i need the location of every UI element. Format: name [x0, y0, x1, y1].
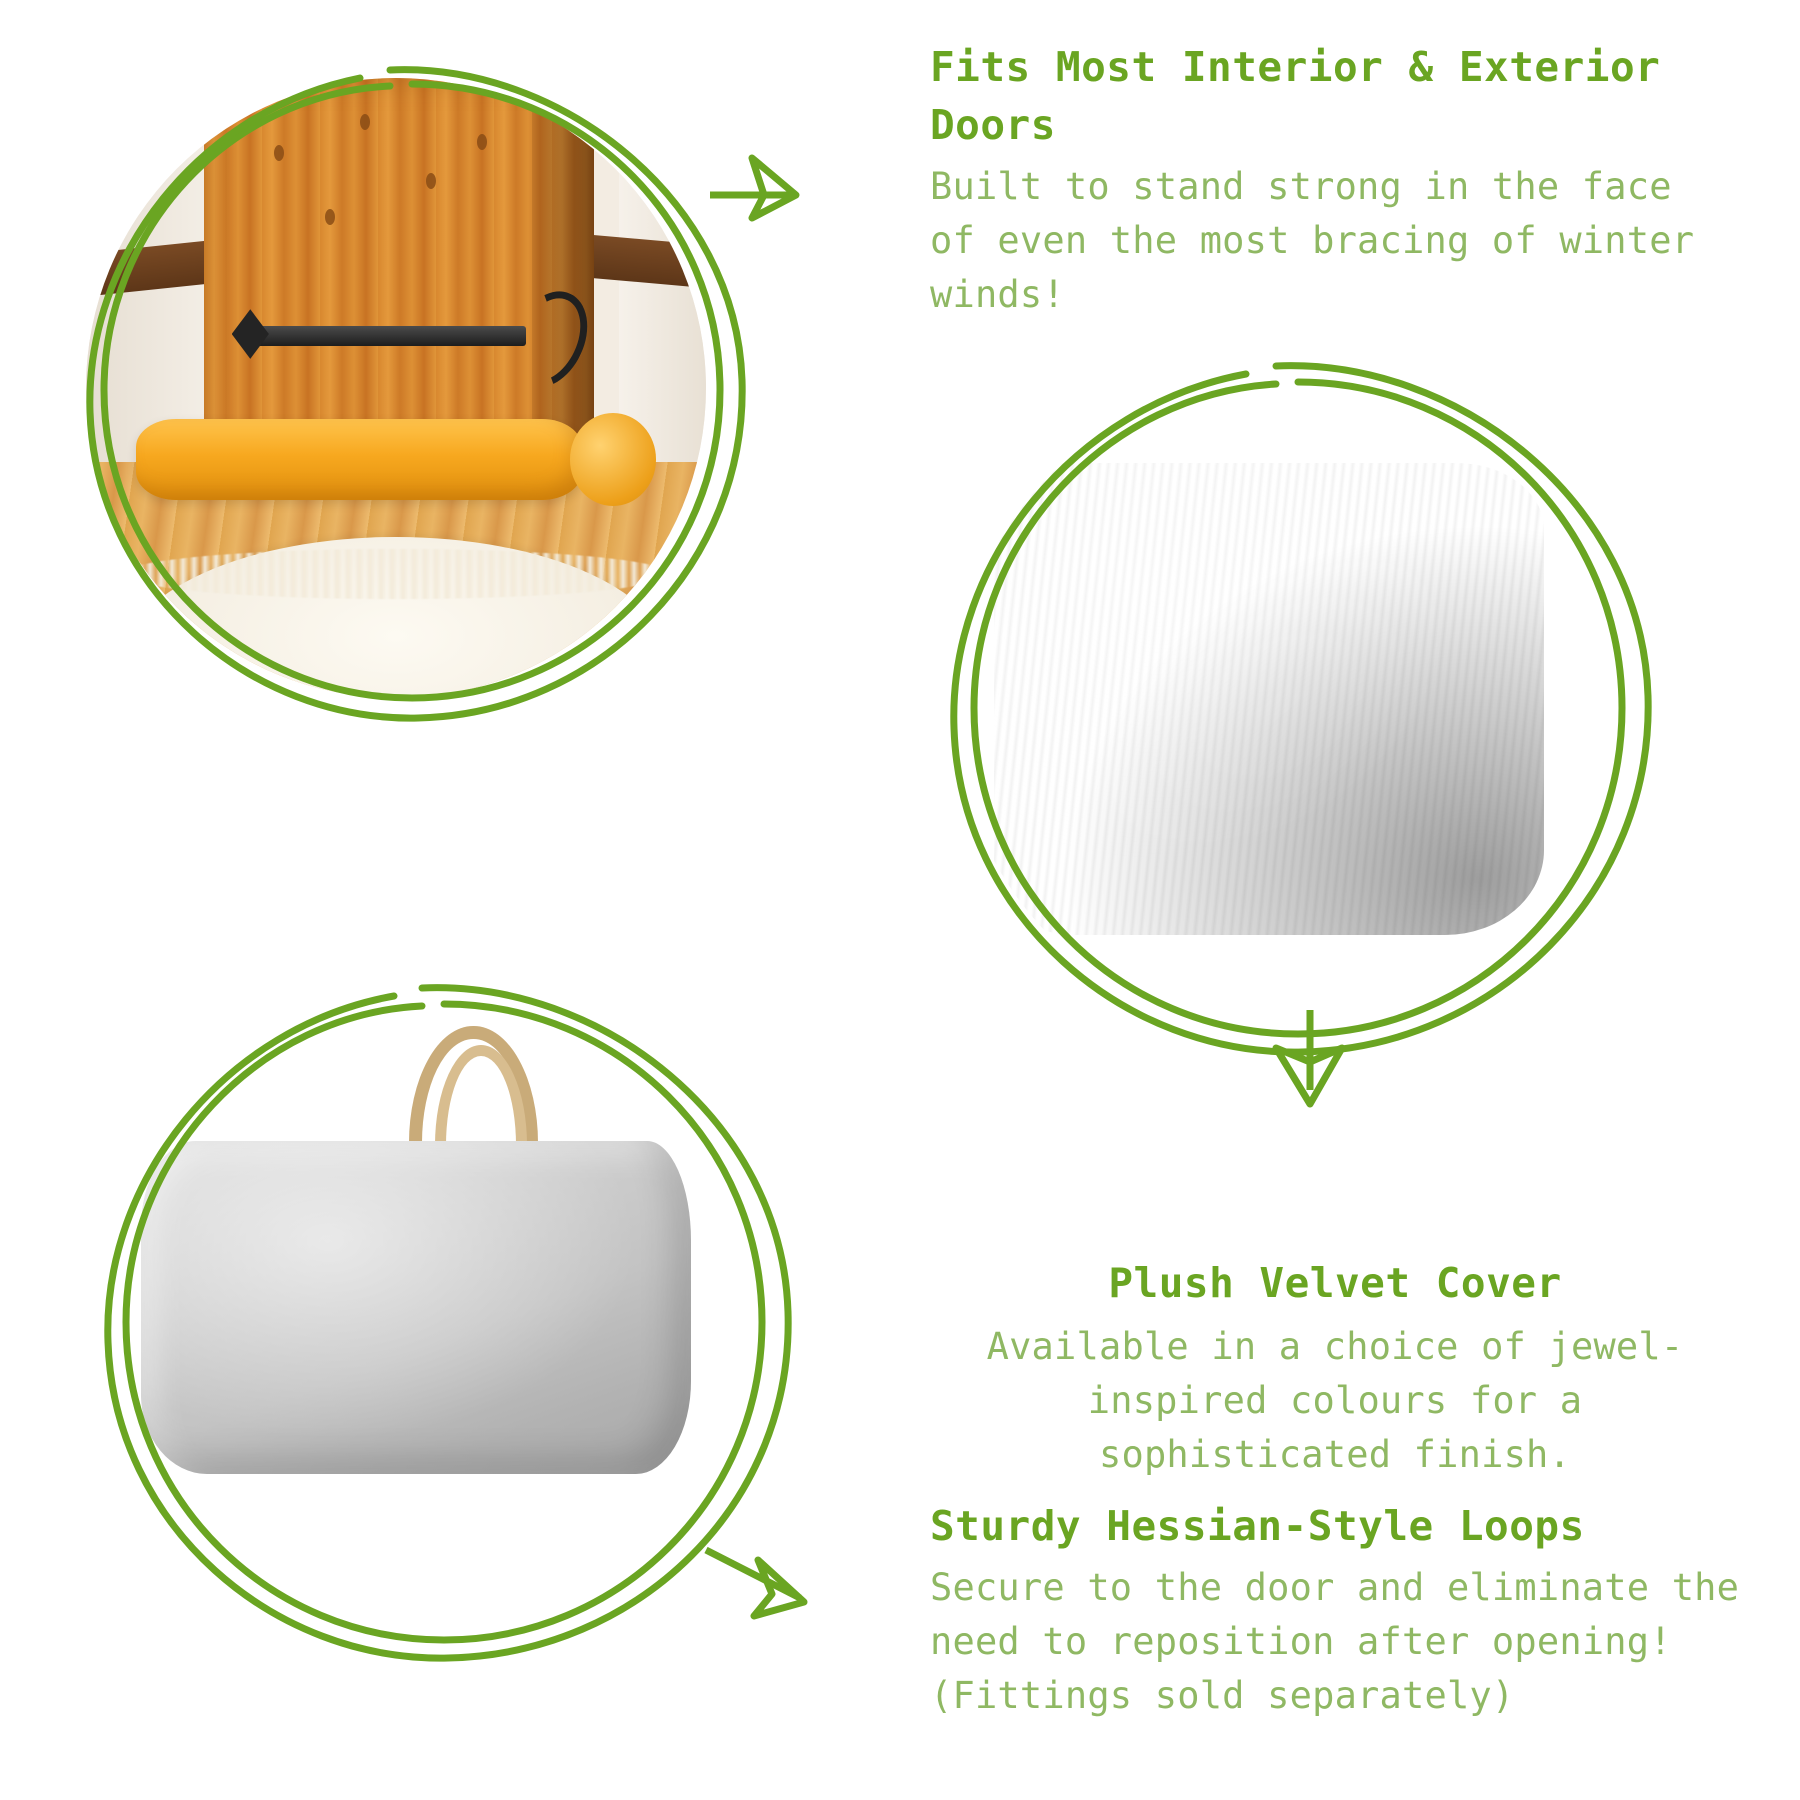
arrow-pointer-icon-3 — [700, 1520, 880, 1660]
arrow-pointer-icon-1 — [700, 140, 880, 260]
feature-title-plush-velvet-cover: Plush Velvet Cover — [940, 1255, 1730, 1312]
feature-block-plush-velvet-cover: Plush Velvet Cover Available in a choice… — [940, 1255, 1730, 1481]
hand-drawn-circle-ring-1 — [60, 50, 760, 750]
feature-body-fits-most-doors: Built to stand strong in the face of eve… — [930, 160, 1730, 321]
feature-block-fits-most-doors: Fits Most Interior & Exterior Doors Buil… — [930, 38, 1730, 321]
feature-title-sturdy-hessian-loops: Sturdy Hessian-Style Loops — [930, 1498, 1740, 1555]
hand-drawn-circle-ring-2 — [928, 350, 1658, 1080]
feature-body-plush-velvet-cover: Available in a choice of jewel-inspired … — [940, 1320, 1730, 1481]
arrow-pointer-icon-2 — [1240, 1000, 1380, 1170]
feature-block-sturdy-hessian-loops: Sturdy Hessian-Style Loops Secure to the… — [930, 1498, 1740, 1722]
hand-drawn-circle-ring-3 — [86, 972, 796, 1682]
feature-body-sturdy-hessian-loops: Secure to the door and eliminate the nee… — [930, 1561, 1740, 1722]
feature-title-fits-most-doors: Fits Most Interior & Exterior Doors — [930, 38, 1730, 154]
